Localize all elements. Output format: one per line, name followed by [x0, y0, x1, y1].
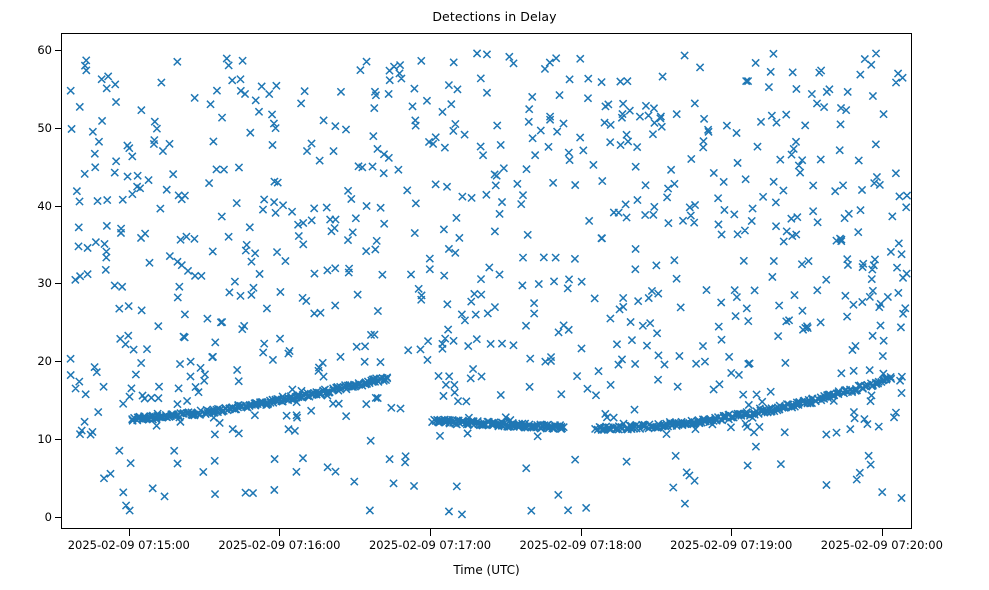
page-title: Detections in Delay [0, 9, 989, 24]
x-tick-mark [430, 529, 431, 536]
plot-area [61, 33, 912, 529]
scatter-series [62, 34, 912, 529]
y-tick-mark [55, 50, 62, 51]
x-tick-label: 2025-02-09 07:20:00 [821, 538, 943, 552]
y-tick-label: 20 [37, 354, 52, 368]
y-tick-mark [55, 517, 62, 518]
y-tick-label-group: 0102030405060 [0, 0, 52, 590]
data-point-markers [67, 50, 911, 518]
y-tick-label: 30 [37, 276, 52, 290]
x-tick-mark [731, 529, 732, 536]
y-tick-mark [55, 439, 62, 440]
x-tick-mark [882, 529, 883, 536]
y-tick-label: 10 [37, 432, 52, 446]
y-tick-label: 40 [37, 199, 52, 213]
matplotlib-figure: Detections in Delay Bistatic Delay (km) … [0, 0, 989, 590]
x-tick-mark [581, 529, 582, 536]
y-tick-mark [55, 128, 62, 129]
x-tick-label: 2025-02-09 07:15:00 [68, 538, 190, 552]
y-tick-mark [55, 361, 62, 362]
y-tick-label: 60 [37, 43, 52, 57]
y-tick-mark [55, 283, 62, 284]
y-tick-label: 0 [45, 510, 52, 524]
x-tick-label: 2025-02-09 07:19:00 [670, 538, 792, 552]
x-tick-mark [129, 529, 130, 536]
x-tick-label: 2025-02-09 07:18:00 [520, 538, 642, 552]
x-tick-label: 2025-02-09 07:17:00 [369, 538, 491, 552]
y-tick-label: 50 [37, 121, 52, 135]
x-axis-title: Time (UTC) [61, 563, 912, 577]
y-tick-mark [55, 206, 62, 207]
x-tick-mark [279, 529, 280, 536]
x-tick-label: 2025-02-09 07:16:00 [218, 538, 340, 552]
